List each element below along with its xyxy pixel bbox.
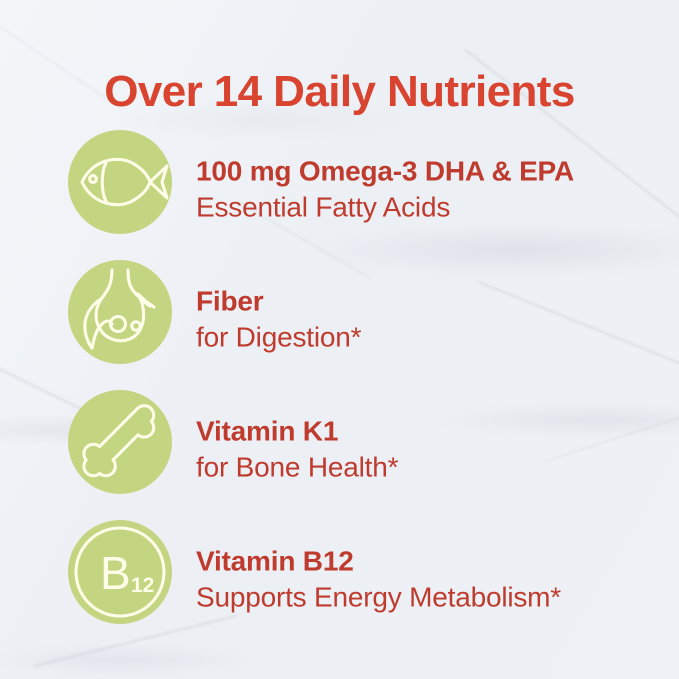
fish-icon xyxy=(68,130,172,234)
b12-icon: B 12 xyxy=(68,520,172,624)
b12-subscript: 12 xyxy=(131,574,154,597)
list-item: B 12 Vitamin B12 Supports Energy Metabol… xyxy=(0,515,679,645)
bone-icon xyxy=(68,390,172,494)
nutrient-text: Fiber for Digestion* xyxy=(196,284,361,357)
page-title: Over 14 Daily Nutrients xyxy=(0,67,679,117)
list-item: Fiber for Digestion* xyxy=(0,255,679,385)
nutrient-text: Vitamin K1 for Bone Health* xyxy=(196,414,398,487)
nutrient-primary-label: Fiber xyxy=(196,284,361,320)
list-item: 100 mg Omega-3 DHA & EPA Essential Fatty… xyxy=(0,125,679,255)
nutrient-secondary-label: for Digestion* xyxy=(196,320,361,356)
nutrient-primary-label: Vitamin K1 xyxy=(196,414,398,450)
list-item: Vitamin K1 for Bone Health* xyxy=(0,385,679,515)
nutrient-secondary-label: for Bone Health* xyxy=(196,450,398,486)
nutrient-text: Vitamin B12 Supports Energy Metabolism* xyxy=(196,544,561,617)
nutrient-list: 100 mg Omega-3 DHA & EPA Essential Fatty… xyxy=(0,125,679,645)
nutrient-primary-label: Vitamin B12 xyxy=(196,544,561,580)
nutrient-secondary-label: Essential Fatty Acids xyxy=(196,190,574,226)
nutrient-text: 100 mg Omega-3 DHA & EPA Essential Fatty… xyxy=(196,154,574,227)
nutrient-infographic: Over 14 Daily Nutrients 100 mg Omega-3 D… xyxy=(0,0,679,679)
stomach-icon xyxy=(68,260,172,364)
nutrient-primary-label: 100 mg Omega-3 DHA & EPA xyxy=(196,154,574,190)
b12-letter: B xyxy=(100,547,131,599)
nutrient-secondary-label: Supports Energy Metabolism* xyxy=(196,580,561,616)
